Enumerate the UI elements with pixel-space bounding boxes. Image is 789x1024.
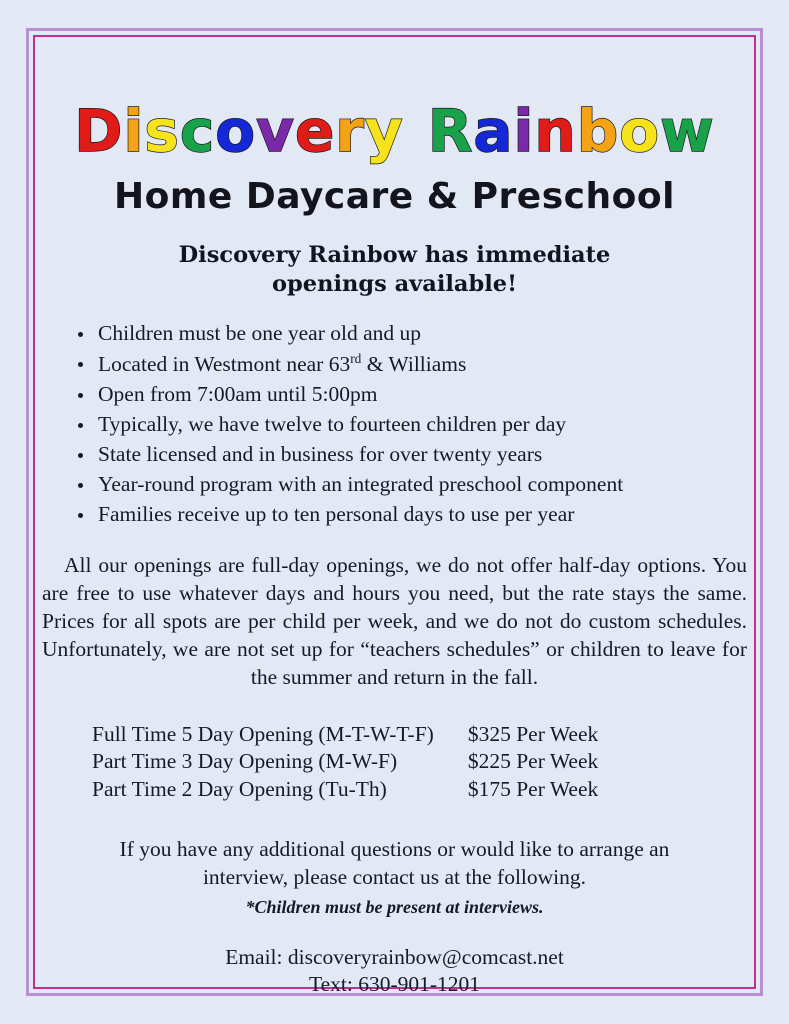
closing-line-1: If you have any additional questions or … — [40, 835, 749, 863]
pricing-rate-value: $325 Per Week — [468, 722, 598, 750]
feature-list-item: State licensed and in business for over … — [76, 441, 749, 469]
contact-email[interactable]: Email: discoveryrainbow@comcast.net — [40, 944, 749, 971]
title-letter: o — [619, 102, 660, 160]
closing-text: If you have any additional questions or … — [40, 835, 749, 891]
feature-list-item: Located in Westmont near 63rd & Williams — [76, 350, 749, 379]
feature-text-tail: & Williams — [361, 352, 466, 376]
feature-list-item: Open from 7:00am until 5:00pm — [76, 381, 749, 409]
feature-list-item: Families receive up to ten personal days… — [76, 501, 749, 529]
title-letter: i — [514, 102, 535, 160]
tagline-line-2: openings available! — [40, 270, 749, 299]
ordinal-suffix: rd — [350, 351, 361, 366]
flyer-page: DiscoveryRainbow Home Daycare & Preschoo… — [0, 0, 789, 1024]
title-letter: c — [180, 102, 215, 160]
availability-tagline: Discovery Rainbow has immediate openings… — [40, 241, 749, 298]
business-subtitle: Home Daycare & Preschool — [40, 176, 749, 217]
tagline-line-1: Discovery Rainbow has immediate — [40, 241, 749, 270]
title-letter: D — [74, 102, 123, 160]
interview-note: *Children must be present at interviews. — [40, 897, 749, 918]
title-letter: r — [335, 102, 365, 160]
contact-block: Email: discoveryrainbow@comcast.net Text… — [40, 944, 749, 998]
pricing-opening-label: Part Time 2 Day Opening (Tu-Th) — [92, 777, 468, 805]
pricing-rate-value: $175 Per Week — [468, 777, 598, 805]
pricing-row: Part Time 2 Day Opening (Tu-Th)$175 Per … — [92, 777, 598, 805]
title-letter: i — [123, 102, 144, 160]
pricing-opening-label: Full Time 5 Day Opening (M-T-W-T-F) — [92, 722, 468, 750]
pricing-table: Full Time 5 Day Opening (M-T-W-T-F)$325 … — [92, 722, 598, 805]
title-letter: y — [365, 102, 404, 160]
title-letter: v — [256, 102, 295, 160]
policy-paragraph: All our openings are full-day openings, … — [42, 551, 747, 692]
rainbow-title: DiscoveryRainbow — [40, 102, 749, 160]
title-letter: a — [473, 102, 513, 160]
title-letter: b — [577, 102, 620, 160]
features-list: Children must be one year old and upLoca… — [40, 320, 749, 529]
title-letter: w — [660, 102, 715, 160]
pricing-opening-label: Part Time 3 Day Opening (M-W-F) — [92, 749, 468, 777]
feature-list-item: Typically, we have twelve to fourteen ch… — [76, 411, 749, 439]
feature-text: Located in Westmont near 63 — [98, 352, 350, 376]
title-letter: n — [534, 102, 576, 160]
contact-text-number[interactable]: Text: 630-901-1201 — [40, 971, 749, 998]
feature-list-item: Children must be one year old and up — [76, 320, 749, 348]
pricing-row: Part Time 3 Day Opening (M-W-F)$225 Per … — [92, 749, 598, 777]
title-letter: o — [215, 102, 256, 160]
flyer-content: DiscoveryRainbow Home Daycare & Preschoo… — [40, 42, 749, 982]
title-letter: s — [144, 102, 180, 160]
pricing-row: Full Time 5 Day Opening (M-T-W-T-F)$325 … — [92, 722, 598, 750]
pricing-rate-value: $225 Per Week — [468, 749, 598, 777]
title-letter: e — [295, 102, 335, 160]
title-letter: R — [428, 102, 474, 160]
closing-line-2: interview, please contact us at the foll… — [40, 863, 749, 891]
feature-list-item: Year-round program with an integrated pr… — [76, 471, 749, 499]
